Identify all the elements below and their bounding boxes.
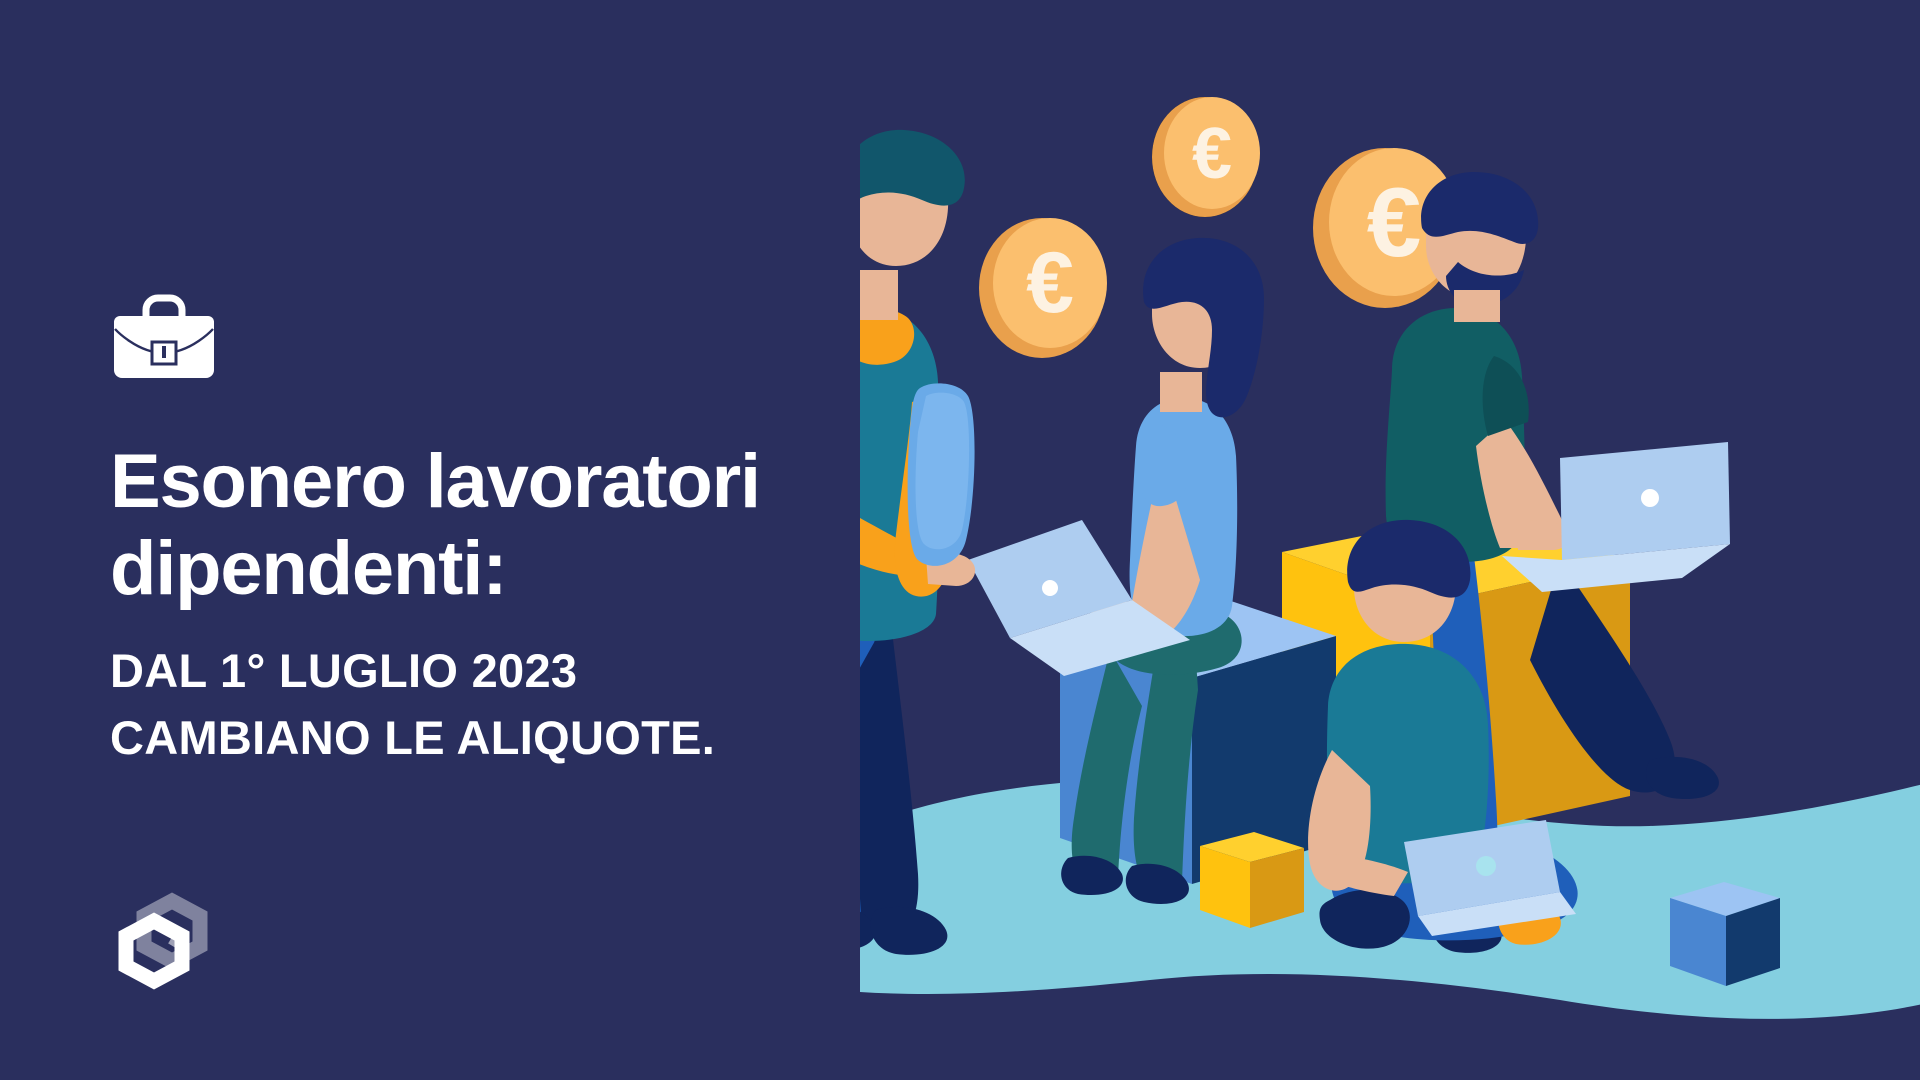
svg-text:€: € xyxy=(1026,235,1074,331)
euro-coin-top-center: € xyxy=(1152,97,1260,217)
blue-box-small xyxy=(1670,882,1780,986)
brand-logo xyxy=(108,885,228,1005)
yellow-box-small xyxy=(1200,832,1304,928)
svg-text:€: € xyxy=(1367,167,1422,277)
page-subtitle: DAL 1° LUGLIO 2023 CAMBIANO LE ALIQUOTE. xyxy=(110,638,970,771)
page-title: Esonero lavoratori dipendenti: xyxy=(110,439,970,612)
tablet xyxy=(908,383,975,566)
briefcase-icon xyxy=(110,290,970,387)
svg-text:€: € xyxy=(1192,114,1232,194)
illustration: € € € xyxy=(860,0,1920,1080)
text-column: Esonero lavoratori dipendenti: DAL 1° LU… xyxy=(110,290,970,772)
promo-banner: Esonero lavoratori dipendenti: DAL 1° LU… xyxy=(0,0,1920,1080)
euro-coin-left: € xyxy=(979,218,1107,358)
